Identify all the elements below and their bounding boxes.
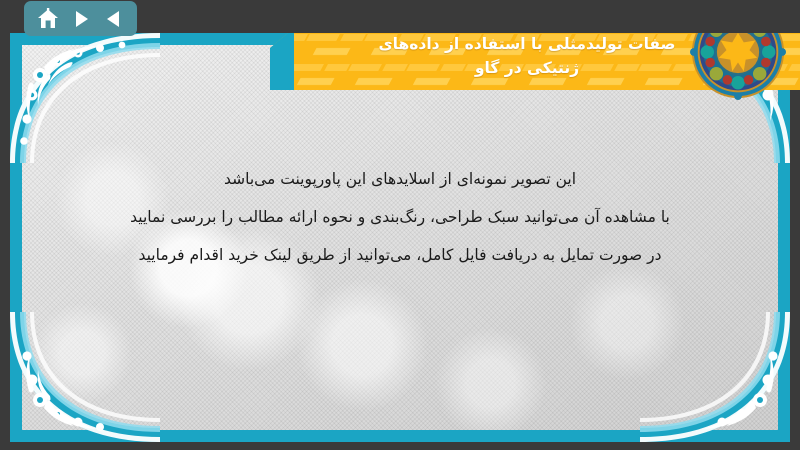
next-slide-button[interactable] — [67, 5, 95, 33]
slide-body: این تصویر نمونه‌ای از اسلایدهای این پاور… — [10, 161, 790, 275]
navigation-bar — [24, 1, 137, 36]
home-icon — [36, 7, 60, 31]
body-line-2: با مشاهده آن می‌توانید سبک طراحی، رنگ‌بن… — [44, 199, 756, 237]
body-line-3: در صورت تمایل به دریافت فایل کامل، می‌تو… — [44, 237, 756, 275]
triangle-right-icon — [70, 8, 92, 30]
body-line-1: این تصویر نمونه‌ای از اسلایدهای این پاور… — [44, 161, 756, 199]
home-button[interactable] — [34, 5, 62, 33]
triangle-left-icon — [103, 8, 125, 30]
slide-viewer: این تصویر نمونه‌ای از اسلایدهای این پاور… — [0, 0, 800, 450]
title-line-2: صفات تولیدمثلی با استفاده از داده‌های — [317, 33, 737, 57]
slide-canvas: این تصویر نمونه‌ای از اسلایدهای این پاور… — [10, 33, 790, 442]
previous-slide-button[interactable] — [100, 5, 128, 33]
title-line-3: ژنتیکی در گاو — [317, 57, 737, 81]
